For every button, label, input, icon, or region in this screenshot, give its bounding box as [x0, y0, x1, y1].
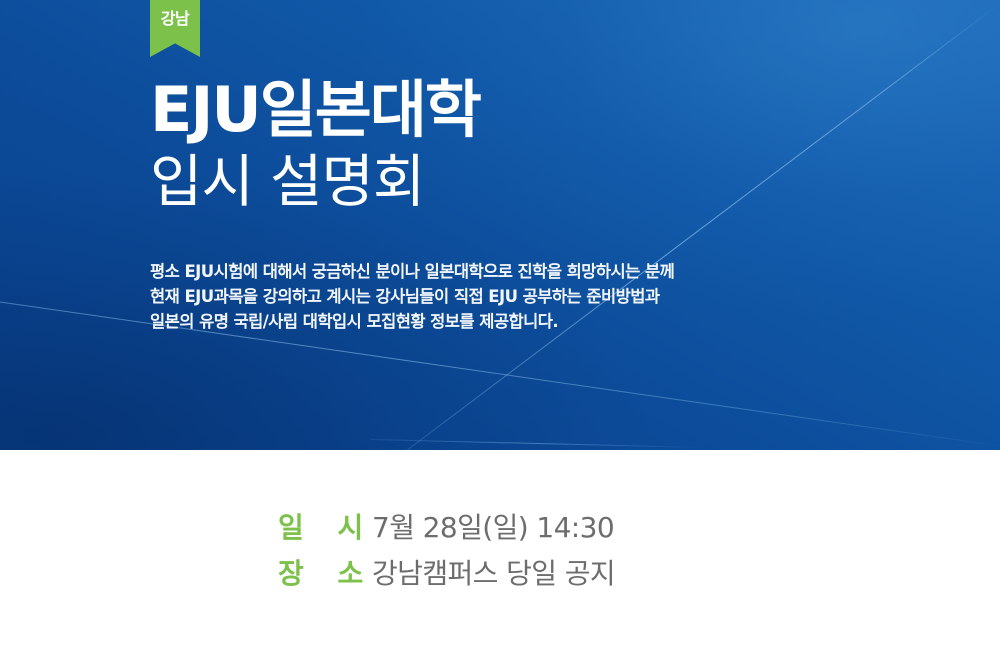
- campus-ribbon-label: 강남: [161, 11, 189, 27]
- event-poster: 강남 EJU일본대학 입시 설명회 평소 EJU시험에 대해서 궁금하신 분이나…: [0, 0, 1000, 650]
- title-block: EJU일본대학 입시 설명회: [150, 78, 970, 213]
- diagonal-streak-line: [370, 439, 700, 448]
- detail-row-datetime: 일 시 7월 28일(일) 14:30: [278, 506, 615, 552]
- event-details-section: 일 시 7월 28일(일) 14:30 장 소 강남캠퍼스 당일 공지: [0, 450, 1000, 650]
- event-details-table: 일 시 7월 28일(일) 14:30 장 소 강남캠퍼스 당일 공지: [278, 506, 615, 598]
- detail-value-datetime: 7월 28일(일) 14:30: [372, 506, 614, 546]
- description-paragraph: 평소 EJU시험에 대해서 궁금하신 분이나 일본대학으로 진학을 희망하시는 …: [150, 259, 910, 334]
- description-line: 현재 EJU과목을 강의하고 계시는 강사님들이 직접 EJU 공부하는 준비방…: [150, 284, 910, 309]
- page-subtitle: 입시 설명회: [150, 153, 970, 213]
- diagonal-streak-line: [376, 3, 1000, 450]
- hero-banner: 강남 EJU일본대학 입시 설명회 평소 EJU시험에 대해서 궁금하신 분이나…: [0, 0, 1000, 450]
- description-line: 평소 EJU시험에 대해서 궁금하신 분이나 일본대학으로 진학을 희망하시는 …: [150, 259, 910, 284]
- detail-row-location: 장 소 강남캠퍼스 당일 공지: [278, 552, 615, 598]
- hero-gradient-shade: [0, 0, 1000, 450]
- campus-ribbon-badge: 강남: [150, 0, 200, 57]
- description-line: 일본의 유명 국립/사립 대학입시 모집현황 정보를 제공합니다.: [150, 309, 910, 334]
- detail-value-location: 강남캠퍼스 당일 공지: [372, 552, 615, 592]
- hero-gradient-glow: [0, 0, 1000, 450]
- detail-label-datetime: 일 시: [278, 506, 364, 546]
- page-title: EJU일본대학: [150, 78, 970, 142]
- detail-label-location: 장 소: [278, 552, 364, 592]
